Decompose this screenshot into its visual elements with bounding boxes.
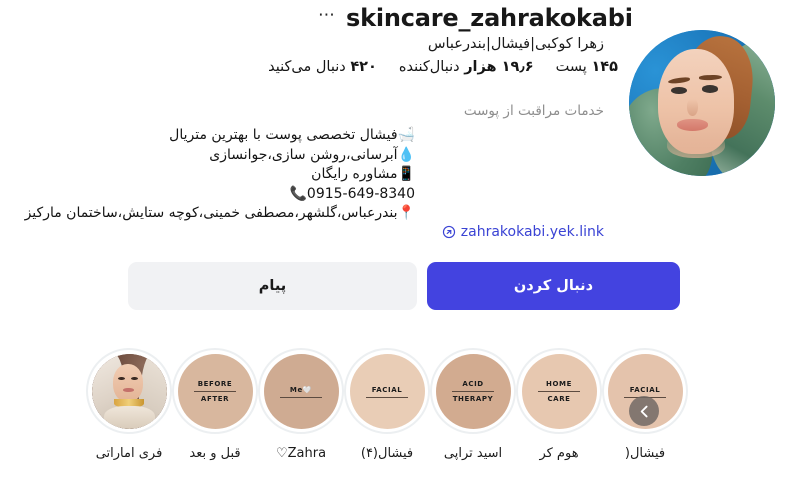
avatar-chin (667, 132, 725, 158)
highlight-cover-top-text: ACID (462, 378, 483, 390)
highlight-label: فیشال( (625, 446, 665, 461)
highlight-cover-top-text: HOME (546, 378, 572, 390)
highlight-photo-lips (123, 388, 134, 392)
ellipsis-horizontal-icon[interactable]: ⋯ (318, 7, 336, 29)
highlight-item[interactable]: FACIALفیشال( (602, 348, 688, 484)
highlight-ring[interactable]: FACIAL (344, 348, 430, 434)
highlight-label: فری اماراتی (96, 446, 163, 461)
stat-following[interactable]: ۴۲۰ دنبال می‌کنید (268, 59, 377, 75)
full-name: زهرا کوکبی|فیشال|بندرعباس (428, 36, 604, 52)
page-title: skincare_zahrakokabi (346, 4, 633, 32)
highlight-ring[interactable]: ACIDTHERAPY (430, 348, 516, 434)
highlight-cover-divider (194, 391, 236, 392)
highlight-photo (92, 354, 167, 429)
message-button[interactable]: پیام (128, 262, 417, 310)
follow-button[interactable]: دنبال کردن (427, 262, 680, 310)
bio-text: 🛁فیشال تخصصی پوست با بهترین متریال 💧آبرس… (25, 126, 415, 224)
avatar-eye-right (702, 85, 718, 92)
highlight-cover-bottom-text: CARE (547, 393, 570, 405)
bio-address-line: 📍بندرعباس،گلشهر،مصطفی خمینی،کوچه ستایش،س… (25, 204, 415, 224)
profile-header: ⋯ skincare_zahrakokabi زهرا کوکبی|فیشال|… (0, 0, 800, 250)
avatar-nose (687, 99, 697, 117)
highlight-cover-divider (366, 397, 408, 398)
highlight-photo-face (113, 364, 143, 402)
highlights-prev-button[interactable] (629, 396, 659, 426)
bio-phone-line: 📞0915-649-8340 (25, 185, 415, 205)
stat-posts-value: ۱۴۵ (591, 59, 618, 75)
stat-followers-label: دنبال‌کننده (399, 59, 460, 75)
action-buttons: دنبال کردن پیام (128, 262, 680, 310)
highlight-cover-divider (280, 397, 322, 398)
avatar-lips (677, 119, 708, 131)
highlight-item[interactable]: FACIALفیشال(۴) (344, 348, 430, 484)
highlight-cover-divider (452, 391, 494, 392)
highlight-cover-divider (538, 391, 580, 392)
highlight-ring[interactable]: BEFOREAFTER (172, 348, 258, 434)
highlight-label: قبل و بعد (189, 446, 240, 461)
highlight-photo-eye-left (118, 377, 125, 380)
highlight-cover-bottom-text: AFTER (201, 393, 229, 405)
stat-following-value: ۴۲۰ (350, 59, 377, 75)
avatar[interactable] (626, 27, 778, 179)
highlight-item[interactable]: BEFOREAFTERقبل و بعد (172, 348, 258, 484)
external-link-icon (442, 225, 456, 239)
business-category: خدمات مراقبت از پوست (464, 103, 604, 119)
highlight-item[interactable]: فری اماراتی (86, 348, 172, 484)
highlight-ring[interactable]: HOMECARE (516, 348, 602, 434)
highlight-cover[interactable]: FACIAL (350, 354, 425, 429)
external-link[interactable]: zahrakokabi.yek.link (442, 224, 604, 240)
highlight-cover[interactable] (92, 354, 167, 429)
highlight-ring[interactable]: Me🤍 (258, 348, 344, 434)
highlight-ring[interactable] (86, 348, 172, 434)
bio-line: 🛁فیشال تخصصی پوست با بهترین متریال (25, 126, 415, 146)
bio-line: 📱مشاوره رایگان (25, 165, 415, 185)
instagram-profile-page: ⋯ skincare_zahrakokabi زهرا کوکبی|فیشال|… (0, 0, 800, 484)
stat-followers-value: ۱۹٫۶ هزار (464, 59, 533, 75)
highlight-cover[interactable]: ACIDTHERAPY (436, 354, 511, 429)
highlight-cover[interactable]: HOMECARE (522, 354, 597, 429)
highlight-cover-bottom-text: THERAPY (453, 393, 494, 405)
highlight-label: اسید تراپی (444, 446, 502, 461)
highlight-label: فیشال(۴) (361, 446, 413, 461)
external-link-text: zahrakokabi.yek.link (461, 224, 604, 240)
avatar-image[interactable] (629, 30, 775, 176)
highlight-label: Zahra♡ (276, 446, 326, 461)
stat-following-label: دنبال می‌کنید (268, 59, 346, 75)
stat-posts[interactable]: ۱۴۵ پست (556, 59, 618, 75)
stats-row: ۱۴۵ پست ۱۹٫۶ هزار دنبال‌کننده ۴۲۰ دنبال … (268, 59, 618, 75)
stat-posts-label: پست (556, 59, 587, 75)
highlight-cover[interactable]: Me🤍 (264, 354, 339, 429)
chevron-left-icon (636, 403, 653, 420)
stat-followers[interactable]: ۱۹٫۶ هزار دنبال‌کننده (399, 59, 534, 75)
highlight-cover[interactable]: BEFOREAFTER (178, 354, 253, 429)
highlight-item[interactable]: Me🤍Zahra♡ (258, 348, 344, 484)
highlight-item[interactable]: HOMECAREهوم کر (516, 348, 602, 484)
highlight-cover-top-text: BEFORE (198, 378, 233, 390)
bio-line: 💧آبرسانی،روشن سازی،جوانسازی (25, 146, 415, 166)
story-highlights: FACIALفیشال(HOMECAREهوم کرACIDTHERAPYاسی… (118, 348, 688, 484)
username-row: ⋯ skincare_zahrakokabi (318, 2, 618, 34)
highlight-item[interactable]: ACIDTHERAPYاسید تراپی (430, 348, 516, 484)
highlight-label: هوم کر (539, 446, 578, 461)
highlight-cover-top-text: FACIAL (630, 384, 661, 396)
highlight-photo-dress (104, 406, 155, 429)
highlight-cover-top-text: FACIAL (372, 384, 403, 396)
highlight-cover-top-text: Me🤍 (290, 384, 312, 396)
highlight-photo-eye-right (131, 377, 138, 380)
